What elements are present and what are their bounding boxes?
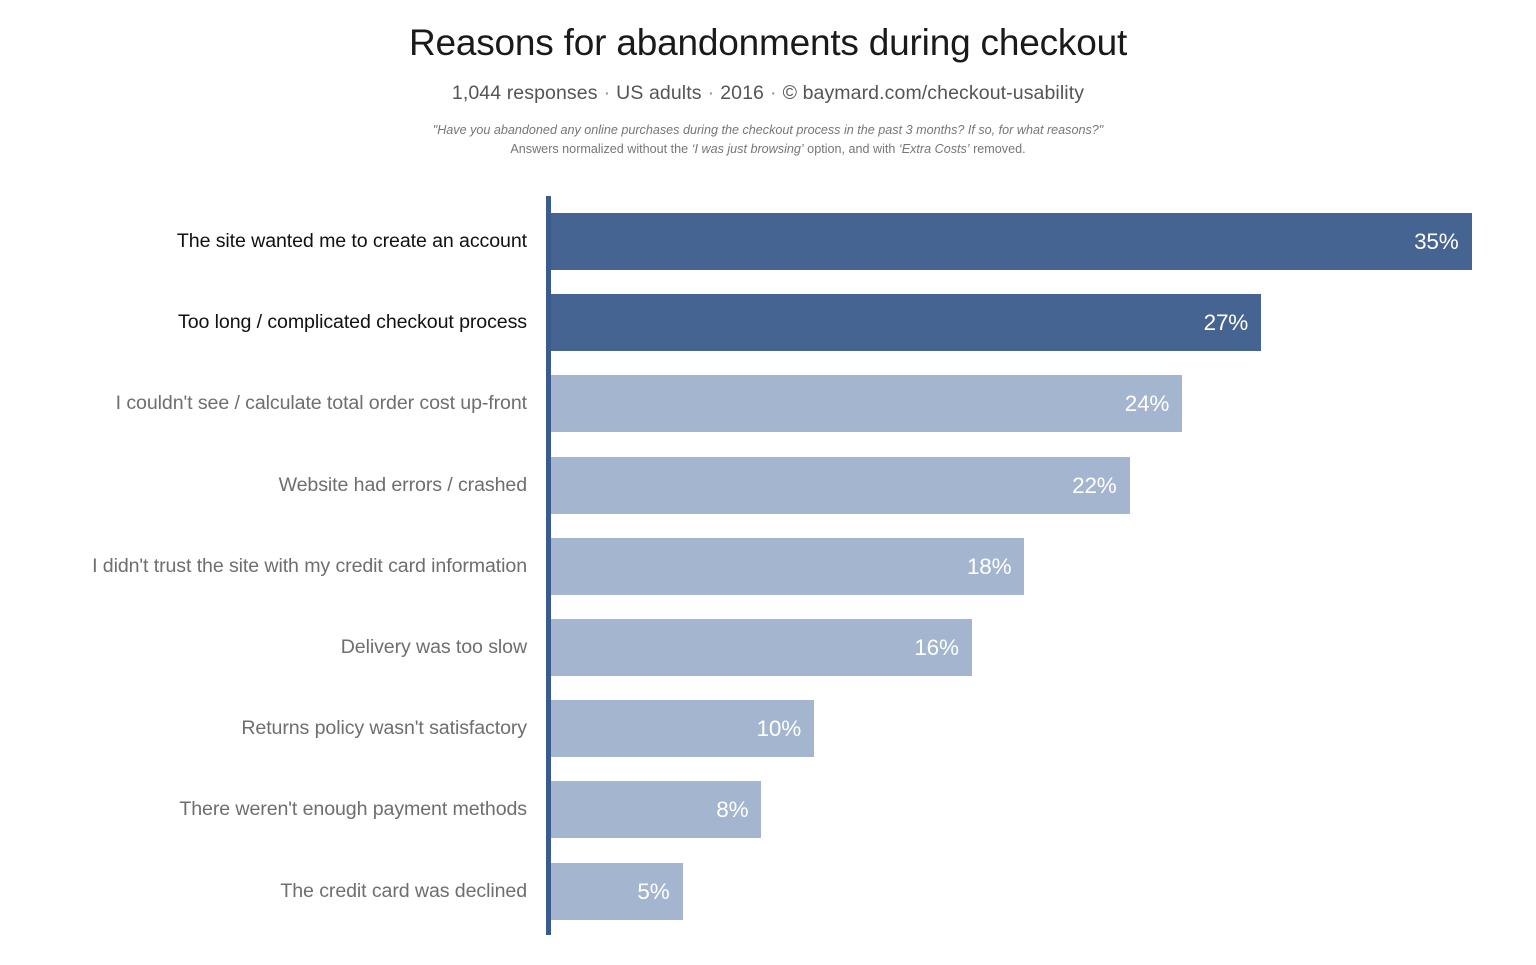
- note-text-d: ‘Extra Costs’: [899, 142, 970, 156]
- bar[interactable]: 18%: [551, 538, 1024, 595]
- bar-row: Website had errors / crashed22%: [0, 457, 1536, 514]
- chart-header: Reasons for abandonments during checkout…: [0, 0, 1536, 159]
- bar-category-label: I didn't trust the site with my credit c…: [0, 538, 527, 595]
- bar-value-label: 27%: [1204, 294, 1248, 351]
- bar-row: The credit card was declined5%: [0, 863, 1536, 920]
- bar-row: I couldn't see / calculate total order c…: [0, 375, 1536, 432]
- subtitle-audience: US adults: [616, 82, 701, 104]
- bar[interactable]: 5%: [551, 863, 683, 920]
- bar[interactable]: 35%: [551, 213, 1472, 270]
- bar[interactable]: 22%: [551, 457, 1130, 514]
- bar-value-label: 35%: [1414, 213, 1458, 270]
- chart-note-methodology: Answers normalized without the ‘I was ju…: [0, 140, 1536, 159]
- bar-value-label: 18%: [967, 538, 1011, 595]
- bar-category-label: Website had errors / crashed: [0, 457, 527, 514]
- page-title: Reasons for abandonments during checkout: [0, 22, 1536, 65]
- bar-category-label: Returns policy wasn't satisfactory: [0, 700, 527, 757]
- bar[interactable]: 10%: [551, 700, 814, 757]
- bar-row: Returns policy wasn't satisfactory10%: [0, 700, 1536, 757]
- bar[interactable]: 24%: [551, 375, 1182, 432]
- bar-category-label: The site wanted me to create an account: [0, 213, 527, 270]
- bar-category-label: I couldn't see / calculate total order c…: [0, 375, 527, 432]
- bar-row: Too long / complicated checkout process2…: [0, 294, 1536, 351]
- bar-category-label: There weren't enough payment methods: [0, 781, 527, 838]
- note-text-e: removed.: [970, 142, 1026, 156]
- bar-value-label: 8%: [716, 781, 748, 838]
- bar-row: There weren't enough payment methods8%: [0, 781, 1536, 838]
- subtitle-separator-1: ·: [598, 82, 617, 104]
- bar-value-label: 5%: [637, 863, 669, 920]
- bar-value-label: 16%: [914, 619, 958, 676]
- subtitle-separator-2: ·: [702, 82, 721, 104]
- note-text-a: Answers normalized without the: [510, 142, 691, 156]
- bar-category-label: Delivery was too slow: [0, 619, 527, 676]
- bar-value-label: 24%: [1125, 375, 1169, 432]
- bar[interactable]: 8%: [551, 781, 761, 838]
- bar[interactable]: 27%: [551, 294, 1261, 351]
- bar-row: Delivery was too slow16%: [0, 619, 1536, 676]
- chart-note: "Have you abandoned any online purchases…: [0, 121, 1536, 159]
- y-axis-line: [546, 196, 551, 935]
- subtitle-year: 2016: [720, 82, 764, 104]
- note-text-b: ‘I was just browsing’: [692, 142, 804, 156]
- subtitle-source: © baymard.com/checkout-usability: [783, 82, 1085, 104]
- note-text-c: option, and with: [804, 142, 899, 156]
- subtitle-separator-3: ·: [764, 82, 783, 104]
- subtitle-responses: 1,044 responses: [452, 82, 598, 104]
- bar-value-label: 10%: [757, 700, 801, 757]
- chart-subtitle: 1,044 responses·US adults·2016·© baymard…: [0, 82, 1536, 105]
- bar-value-label: 22%: [1072, 457, 1116, 514]
- bar-category-label: The credit card was declined: [0, 863, 527, 920]
- bar[interactable]: 16%: [551, 619, 972, 676]
- bar-row: I didn't trust the site with my credit c…: [0, 538, 1536, 595]
- chart-note-question: "Have you abandoned any online purchases…: [0, 121, 1536, 140]
- bar-row: The site wanted me to create an account3…: [0, 213, 1536, 270]
- bar-category-label: Too long / complicated checkout process: [0, 294, 527, 351]
